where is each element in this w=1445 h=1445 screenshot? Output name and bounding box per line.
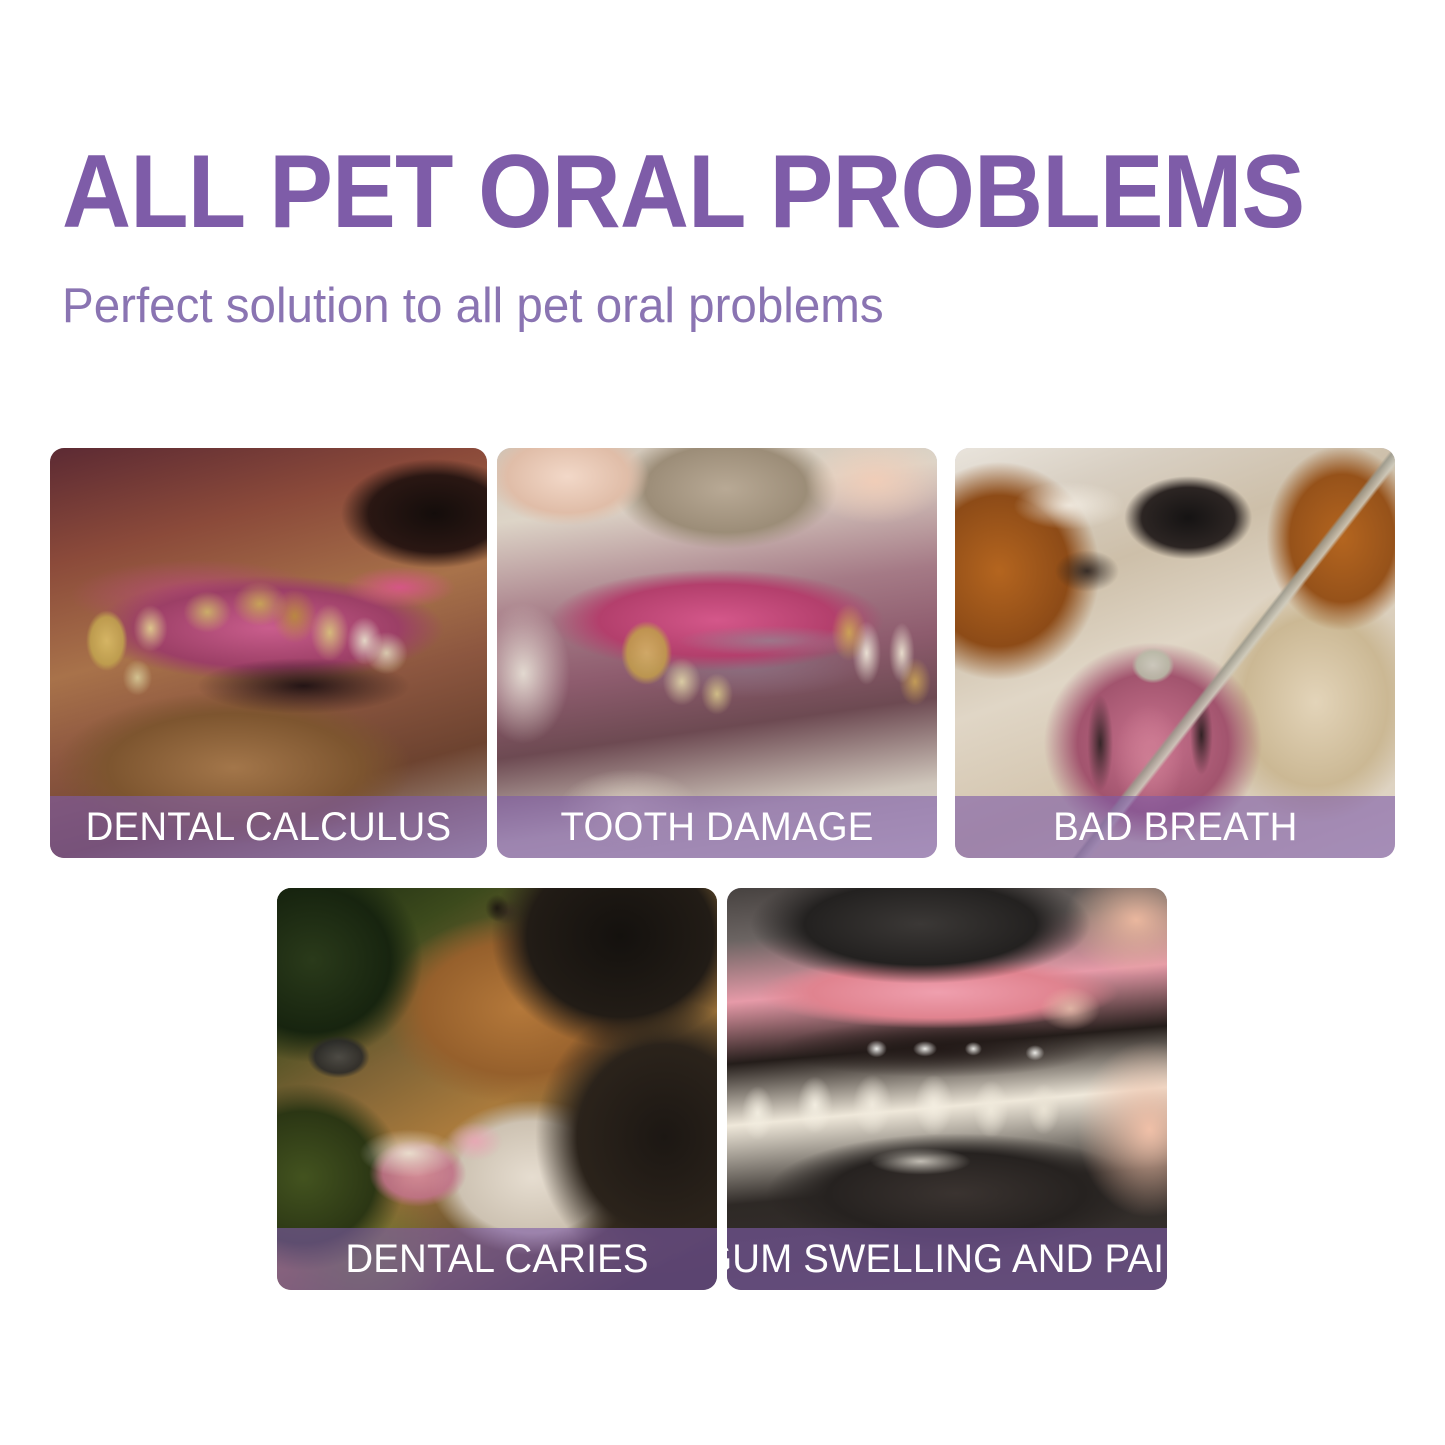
problem-card-dental-calculus[interactable]: DENTAL CALCULUS (50, 448, 487, 858)
problem-card-bad-breath[interactable]: BAD BREATH (955, 448, 1395, 858)
card-label: BAD BREATH (1053, 807, 1297, 847)
card-label-band: BAD BREATH (955, 796, 1395, 858)
card-label: DENTAL CALCULUS (86, 807, 452, 847)
card-label: DENTAL CARIES (345, 1239, 648, 1279)
page-title: ALL PET ORAL PROBLEMS (62, 140, 1276, 244)
card-label-band: DENTAL CARIES (277, 1228, 717, 1290)
card-label-band: TOOTH DAMAGE (497, 796, 937, 858)
card-label: TOOTH DAMAGE (560, 807, 873, 847)
problem-card-tooth-damage[interactable]: TOOTH DAMAGE (497, 448, 937, 858)
card-label-band: GUM SWELLING AND PAIN (727, 1228, 1167, 1290)
card-label-band: DENTAL CALCULUS (50, 796, 487, 858)
problem-card-dental-caries[interactable]: DENTAL CARIES (277, 888, 717, 1290)
problem-card-gum-swelling[interactable]: GUM SWELLING AND PAIN (727, 888, 1167, 1290)
card-label: GUM SWELLING AND PAIN (727, 1239, 1167, 1279)
page-subtitle: Perfect solution to all pet oral problem… (62, 282, 1342, 331)
header: ALL PET ORAL PROBLEMS Perfect solution t… (62, 140, 1382, 331)
